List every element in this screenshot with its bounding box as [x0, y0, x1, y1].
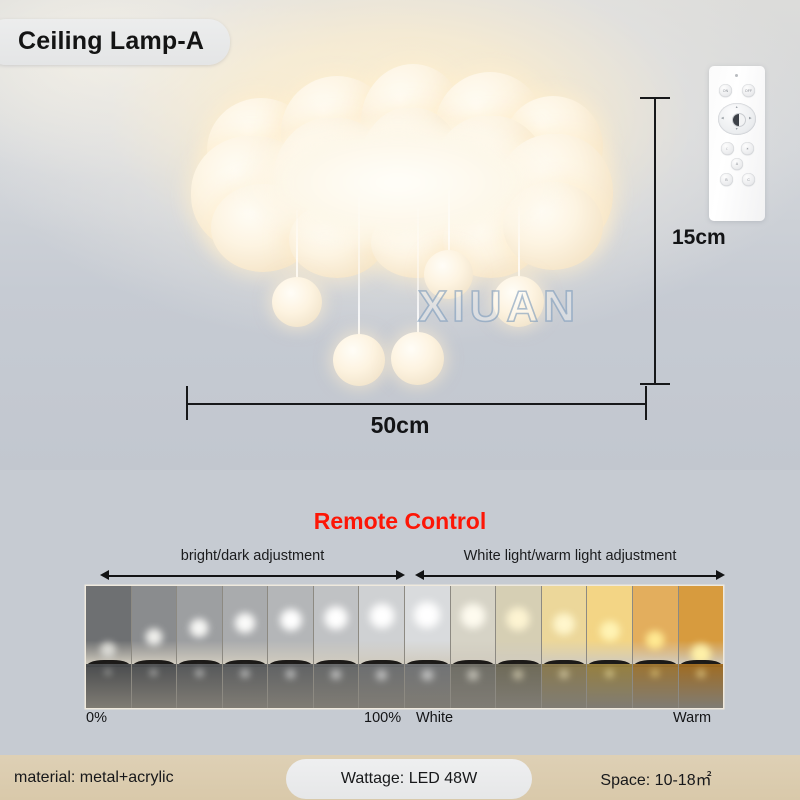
dpad-up-icon: ▲ — [735, 105, 738, 109]
height-dimension-label: 15cm — [672, 226, 726, 250]
width-dimension-line — [186, 403, 646, 405]
remote-control-heading: Remote Control — [0, 508, 800, 535]
arrow-head-right-icon — [396, 570, 405, 580]
panel-sky — [132, 586, 177, 664]
brand-watermark: XIUAN — [418, 282, 580, 332]
panel-reflection — [463, 668, 482, 681]
height-dimension-cap-bottom — [640, 383, 670, 385]
panel-sea — [405, 664, 450, 708]
panel-sun — [277, 606, 305, 634]
scale-label-warm: Warm — [673, 710, 711, 726]
on-button[interactable]: ON — [719, 84, 732, 97]
panel-reflection — [602, 668, 618, 679]
panel-sun — [643, 628, 667, 652]
lighting-sample-panel — [86, 586, 132, 708]
panel-sky — [496, 586, 541, 664]
arrow-head-right-icon — [716, 570, 725, 580]
panel-sky — [633, 586, 678, 664]
remote-control-handset: ON OFF ▲ ◀ ▶ ▼ ☾ ☀ A B C — [709, 66, 765, 221]
panel-sea — [132, 664, 177, 708]
panel-sky — [268, 586, 313, 664]
panel-reflection — [556, 668, 573, 680]
panel-sea — [223, 664, 268, 708]
hanging-globe — [272, 277, 322, 327]
arrow-shaft — [107, 575, 398, 577]
panel-sea — [86, 664, 131, 708]
panel-sky — [679, 586, 724, 664]
panel-sky — [542, 586, 587, 664]
width-dimension-label: 50cm — [0, 412, 800, 439]
full-brightness-button[interactable]: ☀ — [741, 142, 754, 155]
lighting-sample-panel — [451, 586, 497, 708]
panel-sky — [451, 586, 496, 664]
lamp-glow — [233, 120, 563, 250]
panel-sea — [268, 664, 313, 708]
panel-reflection — [693, 668, 709, 679]
specification-bar: material: metal+acrylic Wattage: LED 48W… — [0, 755, 800, 800]
lighting-sample-panel — [405, 586, 451, 708]
lighting-sample-panel — [359, 586, 405, 708]
panel-sun — [550, 610, 578, 638]
product-image: Ceiling Lamp-A — [0, 0, 800, 800]
globe-cord — [296, 210, 298, 278]
lighting-sample-panel — [679, 586, 724, 708]
lighting-sample-panel — [223, 586, 269, 708]
scene-c-button[interactable]: C — [742, 173, 755, 186]
panel-reflection — [102, 668, 114, 676]
panel-sky — [587, 586, 632, 664]
lighting-sample-strip — [86, 586, 723, 708]
spec-material: material: metal+acrylic — [0, 755, 286, 800]
dpad-left-icon: ◀ — [721, 116, 724, 120]
brightness-range-arrow — [100, 570, 405, 582]
panel-reflection — [648, 668, 662, 678]
panel-sun — [232, 610, 258, 636]
lighting-sample-panel — [633, 586, 679, 708]
lighting-sample-panel — [132, 586, 178, 708]
globe-cord — [448, 190, 450, 252]
height-dimension-line — [654, 97, 656, 385]
ir-led-icon — [735, 74, 738, 77]
night-mode-button[interactable]: ☾ — [721, 142, 734, 155]
color-temp-adjustment-label: White light/warm light adjustment — [415, 548, 725, 564]
scene-b-button[interactable]: B — [720, 173, 733, 186]
product-title-badge: Ceiling Lamp-A — [0, 19, 230, 65]
panel-sun — [321, 603, 351, 633]
scale-label-white: White — [416, 710, 453, 726]
remote-control-section: Remote Control bright/dark adjustment Wh… — [0, 470, 800, 755]
arrow-shaft — [422, 575, 718, 577]
brightness-adjustment-label: bright/dark adjustment — [100, 548, 405, 564]
panel-reflection — [509, 668, 527, 681]
panel-sea — [633, 664, 678, 708]
dpad-down-icon: ▼ — [735, 127, 738, 131]
panel-reflection — [282, 668, 299, 680]
scale-label-min: 0% — [86, 710, 107, 726]
panel-sun — [457, 600, 489, 632]
panel-sky — [177, 586, 222, 664]
off-button[interactable]: OFF — [742, 84, 755, 97]
hanging-globe — [333, 334, 385, 386]
panel-reflection — [417, 668, 437, 682]
spec-space: Space: 10-18㎡ — [532, 755, 800, 800]
panel-reflection — [237, 668, 253, 679]
panel-sky — [86, 586, 131, 664]
panel-sky — [314, 586, 359, 664]
hanging-globe — [391, 332, 444, 385]
brightness-center-icon[interactable] — [732, 113, 746, 127]
panel-sun — [503, 604, 533, 634]
panel-sky — [223, 586, 268, 664]
spec-wattage: Wattage: LED 48W — [286, 759, 532, 799]
panel-reflection — [147, 668, 160, 677]
color-temp-range-arrow — [415, 570, 725, 582]
panel-reflection — [372, 668, 391, 681]
panel-sea — [314, 664, 359, 708]
lamp-hero-scene: Ceiling Lamp-A — [0, 0, 800, 470]
scale-label-max: 100% — [364, 710, 401, 726]
panel-sun — [597, 618, 623, 644]
panel-reflection — [327, 668, 345, 681]
panel-sea — [542, 664, 587, 708]
panel-sea — [359, 664, 404, 708]
ceiling-lamp-fixture — [185, 62, 615, 292]
panel-sea — [679, 664, 724, 708]
lighting-sample-panel — [177, 586, 223, 708]
dpad-right-icon: ▶ — [749, 116, 752, 120]
lighting-sample-panel — [268, 586, 314, 708]
scene-a-button[interactable]: A — [731, 158, 743, 170]
page-title: Ceiling Lamp-A — [18, 27, 204, 55]
panel-sea — [496, 664, 541, 708]
scale-labels: 0% 100% White Warm — [86, 710, 723, 732]
panel-reflection — [192, 668, 206, 678]
panel-sun — [410, 598, 444, 632]
panel-sky — [405, 586, 450, 664]
panel-sun — [366, 600, 398, 632]
globe-cord — [518, 206, 520, 278]
panel-sun — [187, 616, 211, 640]
lighting-sample-panel — [314, 586, 360, 708]
panel-sea — [451, 664, 496, 708]
panel-sea — [587, 664, 632, 708]
panel-sun — [98, 640, 118, 660]
lighting-sample-panel — [542, 586, 588, 708]
globe-cord — [358, 196, 360, 336]
lighting-sample-panel — [496, 586, 542, 708]
lighting-sample-panel — [587, 586, 633, 708]
panel-sea — [177, 664, 222, 708]
panel-sun — [143, 626, 165, 648]
panel-sky — [359, 586, 404, 664]
